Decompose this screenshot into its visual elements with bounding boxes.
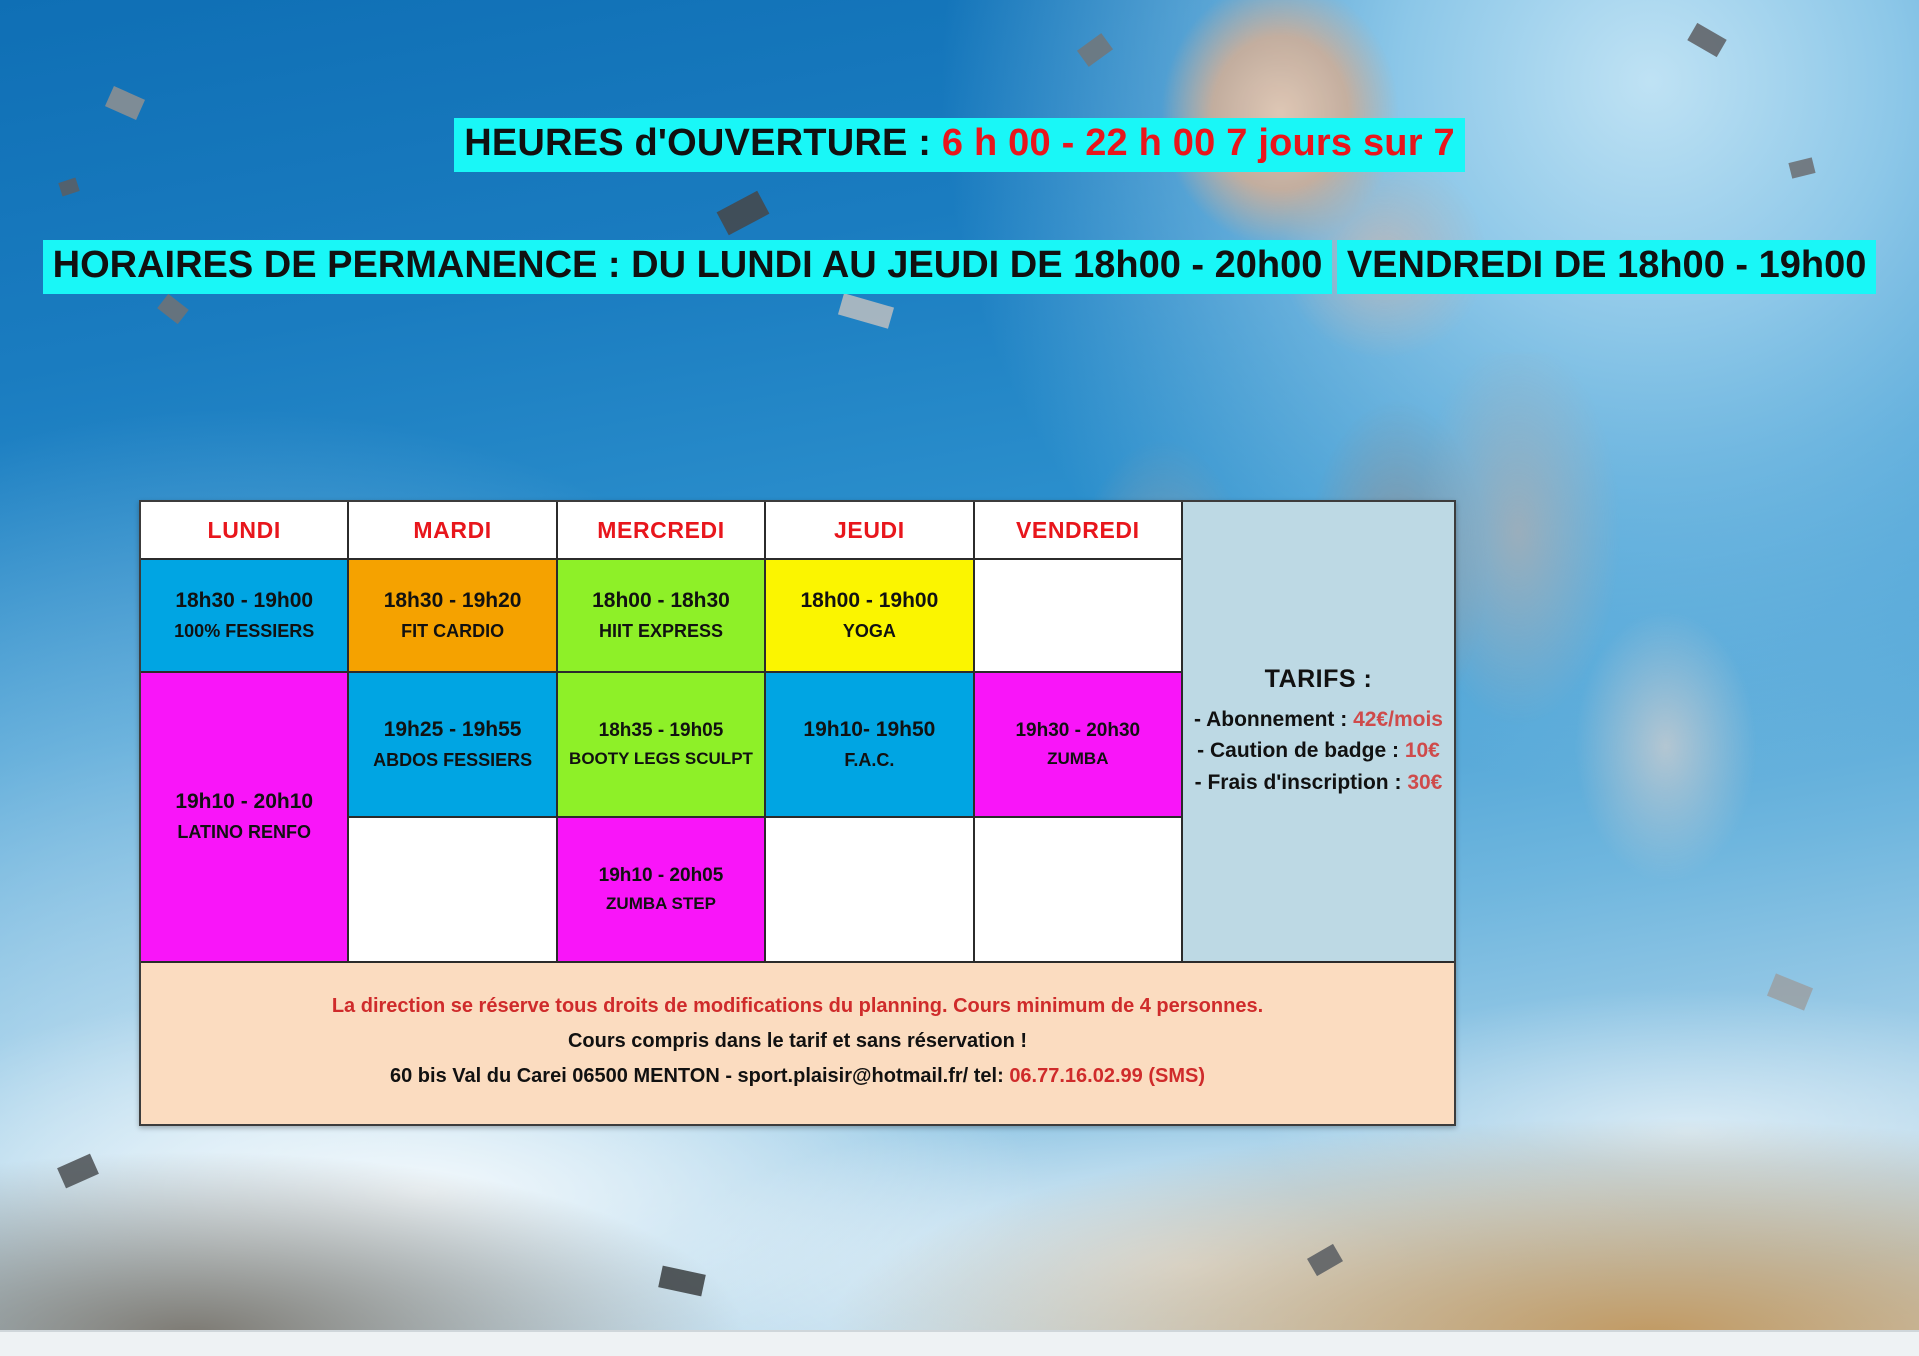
day-header-mercredi: MERCREDI [558,502,766,560]
class-name: FIT CARDIO [401,620,504,643]
class-name: F.A.C. [844,749,894,772]
footer-contact: 60 bis Val du Carei 06500 MENTON - sport… [151,1059,1444,1094]
class-time: 19h10 - 20h10 [175,789,313,815]
empty-cell [766,818,974,963]
day-header-lundi: LUNDI [141,502,349,560]
class-name: YOGA [843,620,896,643]
class-time: 18h35 - 19h05 [599,719,724,743]
footer-phone[interactable]: 06.77.16.02.99 (SMS) [1009,1065,1205,1087]
tarifs-item-abonnement: - Abonnement : 42€/mois [1194,704,1443,736]
class-cell[interactable]: 19h25 - 19h55 ABDOS FESSIERS [349,673,557,818]
class-time: 19h25 - 19h55 [384,717,522,743]
class-time: 18h00 - 19h00 [801,588,939,614]
class-name: ZUMBA STEP [606,893,716,915]
class-name: LATINO RENFO [177,821,311,844]
class-cell-latino-renfo[interactable]: 19h10 - 20h10 LATINO RENFO [141,673,349,963]
footer-panel: La direction se réserve tous droits de m… [141,963,1454,1124]
tarifs-item-label: - Frais d'inscription : [1195,771,1408,794]
class-time: 19h10 - 20h05 [599,864,724,888]
tarifs-item-frais: - Frais d'inscription : 30€ [1195,767,1443,799]
tarifs-item-amount: 42€/mois [1353,708,1443,731]
class-cell[interactable]: 19h10 - 20h05 ZUMBA STEP [558,818,766,963]
empty-cell [349,818,557,963]
class-name: HIIT EXPRESS [599,620,723,643]
headings-block: HEURES d'OUVERTURE : 6 h 00 - 22 h 00 7 … [0,118,1919,294]
bottom-bar [0,1330,1919,1356]
class-name: ABDOS FESSIERS [373,749,532,772]
ground-background [0,1104,1919,1334]
day-header-jeudi: JEUDI [766,502,974,560]
opening-hours-value: 6 h 00 - 22 h 00 7 jours sur 7 [942,122,1455,164]
class-cell[interactable]: 19h10- 19h50 F.A.C. [766,673,974,818]
tarifs-item-amount: 30€ [1407,771,1442,794]
opening-hours-label: HEURES d'OUVERTURE : [464,122,942,164]
poster: HEURES d'OUVERTURE : 6 h 00 - 22 h 00 7 … [0,0,1919,1356]
footer-address: 60 bis Val du Carei 06500 MENTON - sport… [390,1065,1009,1087]
tarifs-item-caution: - Caution de badge : 10€ [1197,735,1440,767]
class-cell[interactable]: 18h35 - 19h05 BOOTY LEGS SCULPT [558,673,766,818]
planning-grid: LUNDI MARDI MERCREDI JEUDI VENDREDI 18h3… [141,502,1183,963]
tarifs-item-label: - Abonnement : [1194,708,1353,731]
class-time: 19h30 - 20h30 [1015,719,1140,743]
class-name: 100% FESSIERS [174,620,314,643]
class-cell[interactable]: 18h30 - 19h20 FIT CARDIO [349,560,557,673]
class-cell[interactable]: 18h00 - 18h30 HIIT EXPRESS [558,560,766,673]
class-cell[interactable]: 18h30 - 19h00 100% FESSIERS [141,560,349,673]
empty-cell [975,560,1183,673]
class-cell[interactable]: 18h00 - 19h00 YOGA [766,560,974,673]
class-cell[interactable]: 19h30 - 20h30 ZUMBA [975,673,1183,818]
class-time: 19h10- 19h50 [803,717,935,743]
footer-disclaimer: La direction se réserve tous droits de m… [151,989,1444,1024]
tarifs-item-label: - Caution de badge : [1197,739,1405,762]
class-name: ZUMBA [1047,748,1108,770]
class-time: 18h00 - 18h30 [592,588,730,614]
day-header-vendredi: VENDREDI [975,502,1183,560]
class-time: 18h30 - 19h20 [384,588,522,614]
empty-cell [975,818,1183,963]
footer-included-note: Cours compris dans le tarif et sans rése… [151,1024,1444,1059]
tarifs-title: TARIFS : [1265,665,1373,694]
class-time: 18h30 - 19h00 [175,588,313,614]
tarifs-item-amount: 10€ [1405,739,1440,762]
class-name: BOOTY LEGS SCULPT [569,748,753,770]
friday-hours-banner: VENDREDI DE 18h00 - 19h00 [1337,240,1877,294]
permanence-hours-banner: HORAIRES DE PERMANENCE : DU LUNDI AU JEU… [43,240,1333,294]
planning-board-main: LUNDI MARDI MERCREDI JEUDI VENDREDI 18h3… [141,502,1454,963]
day-header-mardi: MARDI [349,502,557,560]
opening-hours-banner: HEURES d'OUVERTURE : 6 h 00 - 22 h 00 7 … [454,118,1465,172]
planning-board: LUNDI MARDI MERCREDI JEUDI VENDREDI 18h3… [139,500,1456,1126]
tarifs-panel: TARIFS : - Abonnement : 42€/mois - Cauti… [1183,502,1454,963]
